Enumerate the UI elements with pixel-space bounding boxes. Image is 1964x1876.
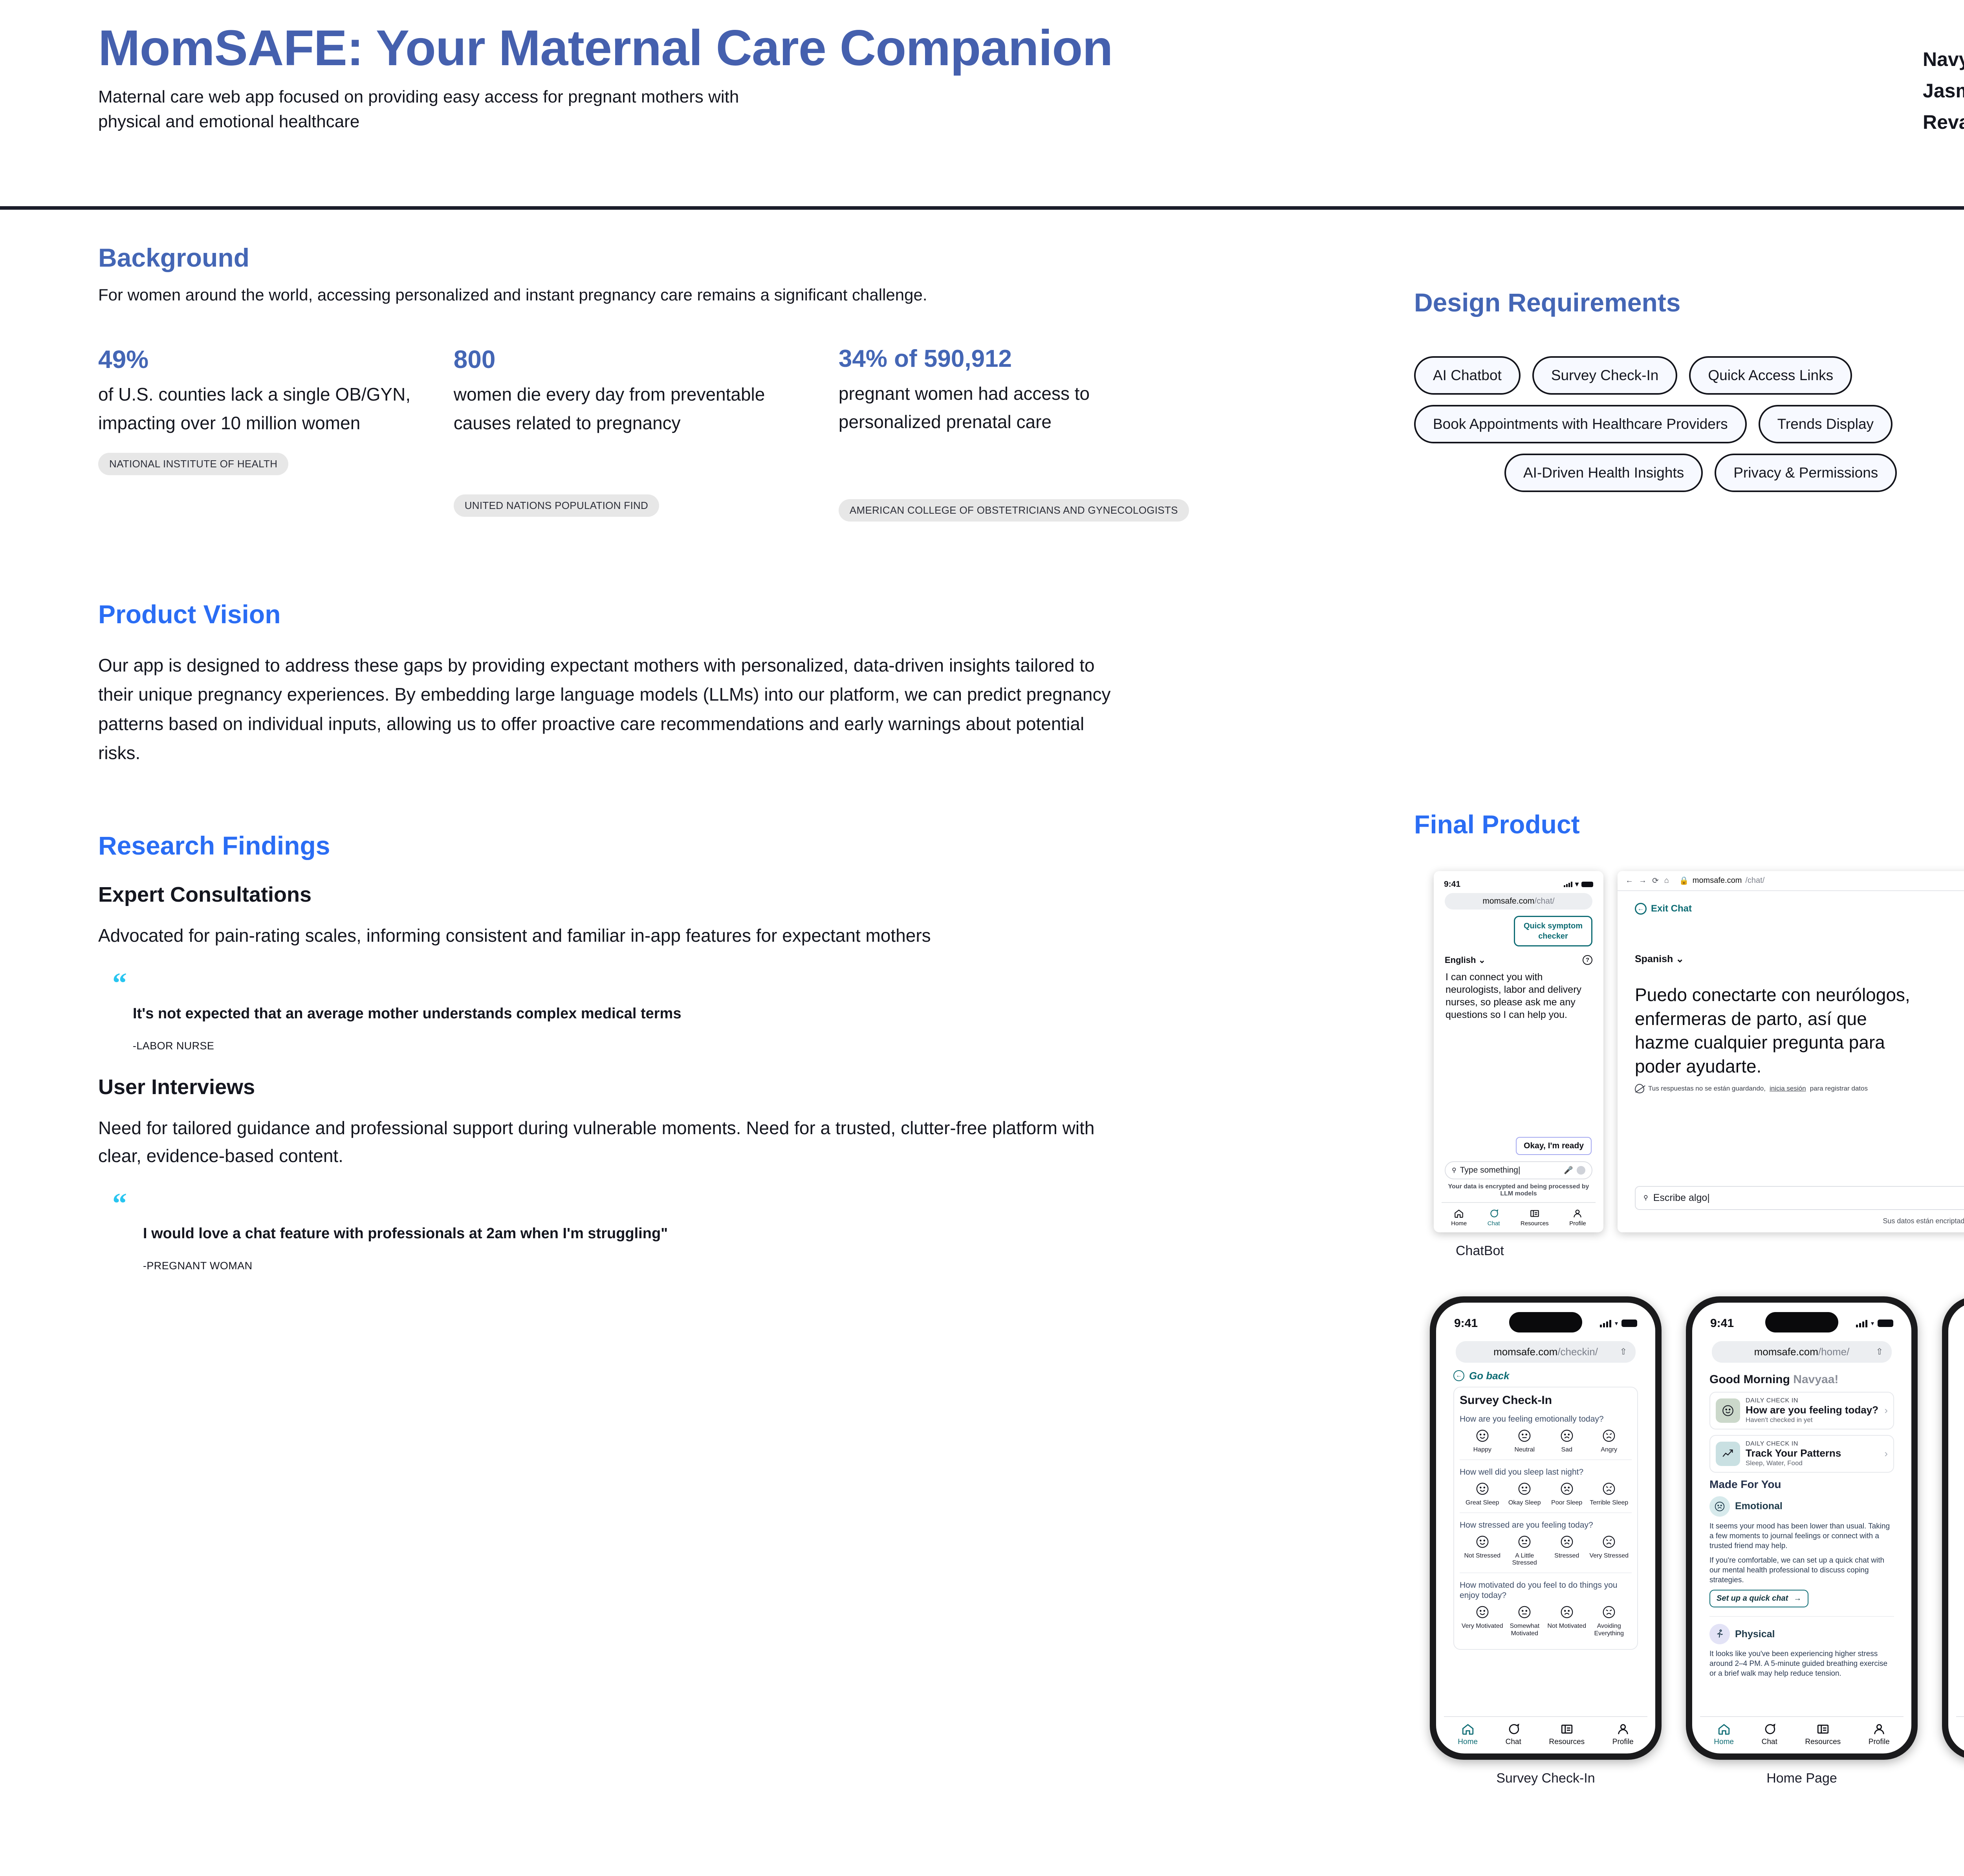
resources-icon — [1530, 1208, 1540, 1219]
page-content: ← Go back Survey Check-In How are you fe… — [1444, 1363, 1647, 1716]
url-domain: momsafe.com — [1693, 876, 1742, 885]
product-vision-heading: Product Vision — [98, 600, 1320, 629]
bot-message: I can connect you with neurologists, lab… — [1446, 971, 1592, 1021]
survey-title: Survey Check-In — [1460, 1394, 1632, 1407]
sad-face-icon — [1714, 1501, 1726, 1512]
phone-mockup-chat: 9:41 ▾ momsafe.com/chat/ Quick symptom c… — [1434, 871, 1603, 1232]
url-bar[interactable]: momsafe.com/checkin/ ⇧ — [1456, 1341, 1636, 1363]
sad-face-icon — [1559, 1534, 1574, 1549]
author-names: Navyaa Vemuri Jasmine Sayed Reva Moolky — [1923, 48, 1964, 134]
sad-face-icon — [1559, 1605, 1574, 1620]
bottom-tab-bar: Home Chat Resources — [1444, 1716, 1647, 1753]
phone-screen: 9:41 ▾ momsafe.com/checkin/ ⇧ — [1436, 1303, 1655, 1753]
user-name: Navyaa! — [1793, 1373, 1838, 1386]
url-path: /checkin/ — [1557, 1346, 1598, 1358]
card-kicker: DAILY CHECK IN — [1746, 1397, 1879, 1404]
survey-option-row: Great Sleep Okay Sleep Poo — [1460, 1481, 1632, 1513]
dynamic-island — [1765, 1312, 1838, 1332]
share-icon[interactable]: ⇧ — [1620, 1347, 1627, 1357]
final-product-section: Final Product 9:41 ▾ — [1414, 810, 1964, 1786]
survey-option[interactable]: Angry — [1588, 1428, 1631, 1454]
survey-option[interactable]: Somewhat Motivated — [1504, 1605, 1546, 1637]
author-name: Navyaa Vemuri — [1923, 48, 1964, 71]
emotional-insight-header: Emotional — [1709, 1496, 1894, 1517]
physical-insight-header: Physical — [1709, 1624, 1894, 1644]
eye-off-icon — [1635, 1084, 1644, 1093]
phone-screen: 9:41 ▾ momsafe.com/home/ ⇧ — [1692, 1303, 1911, 1753]
go-back-button[interactable]: ← Go back — [1453, 1370, 1638, 1382]
requirement-pill-ai-driven-health-insights[interactable]: AI-Driven Health Insights — [1504, 454, 1703, 492]
survey-question: How are you feeling emotionally today? — [1460, 1414, 1632, 1424]
survey-option[interactable]: Okay Sleep — [1504, 1481, 1546, 1507]
angry-face-icon — [1601, 1605, 1616, 1620]
ready-button[interactable]: Okay, I'm ready — [1516, 1137, 1592, 1155]
insight-name: Physical — [1735, 1629, 1775, 1640]
quote-text: It's not expected that an average mother… — [133, 1003, 801, 1025]
header-left: MomSAFE: Your Maternal Care Companion Ma… — [98, 22, 1113, 134]
set-up-quick-chat-button[interactable]: Set up a quick chat → — [1709, 1590, 1808, 1607]
card-subtitle: Haven't checked in yet — [1746, 1416, 1879, 1424]
wifi-icon: ▾ — [1615, 1320, 1618, 1327]
bottom-tab-bar: Home Chat Resources — [1700, 1716, 1904, 1753]
resources-phone-group: 9:41 ▾ momsafe.com/resources/ — [1942, 1296, 1964, 1786]
design-requirements-heading: Design Requirements — [1414, 288, 1964, 317]
url-bar[interactable]: momsafe.com/chat/ — [1445, 893, 1592, 910]
stat-text: women die every day from preventable cau… — [454, 380, 807, 437]
trend-icon-tile — [1716, 1442, 1740, 1466]
card-subtitle: Sleep, Water, Food — [1746, 1459, 1879, 1467]
requirement-row: Book Appointments with Healthcare Provid… — [1414, 405, 1964, 443]
bottom-tab-bar: Home Chat Resources — [1956, 1716, 1964, 1753]
url-path: /chat/ — [1534, 897, 1554, 906]
runner-icon — [1714, 1628, 1726, 1640]
card-kicker: DAILY CHECK IN — [1746, 1440, 1879, 1448]
chat-input[interactable]: Escribe algo| — [1653, 1192, 1964, 1204]
final-product-heading: Final Product — [1414, 810, 1964, 839]
caption-home: Home Page — [1686, 1771, 1918, 1786]
caption-chatbot: ChatBot — [1434, 1243, 1603, 1259]
requirement-row: AI-Driven Health Insights Privacy & Perm… — [1414, 454, 1964, 492]
background-section: Background For women around the world, a… — [98, 243, 1320, 522]
resources-icon — [1816, 1722, 1830, 1736]
language-selector[interactable]: Spanish ⌄ — [1635, 953, 1684, 965]
card-title: How are you feeling today? — [1746, 1404, 1879, 1416]
happy-face-icon — [1475, 1428, 1490, 1443]
expert-quote-block: “ It's not expected that an average moth… — [98, 976, 1320, 1052]
profile-icon — [1872, 1722, 1886, 1736]
emotional-paragraph-1: It seems your mood has been lower than u… — [1709, 1521, 1894, 1551]
forward-icon[interactable]: → — [1639, 876, 1647, 885]
page-content: Good Morning Navyaa! DAILY CHECK IN How … — [1700, 1363, 1904, 1716]
home-icon — [1717, 1722, 1731, 1736]
survey-option[interactable]: Poor Sleep — [1546, 1481, 1588, 1507]
survey-option[interactable]: Not Stressed — [1461, 1534, 1504, 1567]
stat-number: 34% of 590,912 — [839, 346, 1320, 372]
background-heading: Background — [98, 243, 1320, 272]
runner-icon-tile — [1709, 1624, 1730, 1644]
option-label: Angry — [1588, 1446, 1631, 1454]
tab-resources[interactable]: Resources — [1521, 1208, 1549, 1227]
language-row: Spanish ⌄ ? — [1635, 953, 1964, 965]
author-name: Reva Moolky — [1923, 111, 1964, 134]
tab-profile[interactable]: Profile — [1569, 1208, 1586, 1227]
neutral-face-icon — [1517, 1481, 1532, 1496]
survey-option[interactable]: Very Motivated — [1461, 1605, 1504, 1637]
tab-chat[interactable]: Chat — [1488, 1208, 1500, 1227]
encryption-note: Sus datos están encriptados y procesados… — [1635, 1217, 1964, 1225]
requirement-pill-survey-check-in[interactable]: Survey Check-In — [1532, 356, 1678, 395]
divider — [1709, 1616, 1894, 1617]
option-label: Okay Sleep — [1504, 1499, 1546, 1507]
option-label: Great Sleep — [1461, 1499, 1504, 1507]
url-bar[interactable]: momsafe.com/home/ ⇧ — [1712, 1341, 1892, 1363]
happy-face-icon — [1721, 1404, 1735, 1417]
poster-header: MomSAFE: Your Maternal Care Companion Ma… — [0, 0, 1964, 210]
page-content: Resources ⚲ ex. Doctors near me ⌘/ Quick… — [1956, 1363, 1964, 1716]
chat-bubble-icon — [1489, 1208, 1499, 1219]
tab-home[interactable]: Home — [1714, 1722, 1734, 1746]
option-label: Avoiding Everything — [1588, 1623, 1631, 1637]
survey-option[interactable]: Very Stressed — [1588, 1534, 1631, 1567]
stat-text: of U.S. counties lack a single OB/GYN, i… — [98, 380, 452, 437]
profile-icon — [1616, 1722, 1630, 1736]
survey-option-row: Happy Neutral Sad — [1460, 1428, 1632, 1460]
chatbot-phone-group: 9:41 ▾ momsafe.com/chat/ Quick symptom c… — [1434, 871, 1603, 1259]
track-patterns-card[interactable]: DAILY CHECK IN Track Your Patterns Sleep… — [1709, 1435, 1894, 1473]
survey-card: Survey Check-In How are you feeling emot… — [1453, 1387, 1638, 1650]
requirement-pill-list: AI Chatbot Survey Check-In Quick Access … — [1414, 356, 1964, 492]
arrow-right-icon: → — [1794, 1594, 1801, 1603]
survey-phone-group: 9:41 ▾ momsafe.com/checkin/ ⇧ — [1430, 1296, 1662, 1786]
requirement-pill-book-appointments[interactable]: Book Appointments with Healthcare Provid… — [1414, 405, 1747, 443]
chat-bubble-icon — [1507, 1722, 1520, 1736]
battery-icon — [1581, 882, 1593, 887]
url-domain: momsafe.com — [1482, 897, 1534, 906]
status-bar: 9:41 ▾ — [1444, 1311, 1647, 1332]
chat-input[interactable]: Type something| — [1460, 1166, 1561, 1175]
survey-option[interactable]: Avoiding Everything — [1588, 1605, 1631, 1637]
user-interviews-heading: User Interviews — [98, 1075, 1320, 1099]
tab-chat[interactable]: Chat — [1762, 1722, 1777, 1746]
greeting: Good Morning Navyaa! — [1709, 1373, 1894, 1386]
page-subtitle: Maternal care web app focused on providi… — [98, 85, 1041, 134]
caption-survey: Survey Check-In — [1430, 1771, 1662, 1786]
interview-quote-block: “ I would love a chat feature with profe… — [98, 1196, 1320, 1272]
survey-option[interactable]: Not Motivated — [1546, 1605, 1588, 1637]
wifi-icon: ▾ — [1575, 880, 1579, 888]
option-label: Neutral — [1504, 1446, 1546, 1454]
happy-face-icon — [1475, 1534, 1490, 1549]
quote-attribution: -PREGNANT WOMAN — [143, 1260, 1320, 1272]
expert-consultations-text: Advocated for pain-rating scales, inform… — [98, 922, 1104, 950]
daily-checkin-card[interactable]: DAILY CHECK IN How are you feeling today… — [1709, 1392, 1894, 1429]
back-arrow-icon: ← — [1453, 1370, 1464, 1381]
phone-mockup-resources: 9:41 ▾ momsafe.com/resources/ — [1942, 1296, 1964, 1760]
phone-mockup-survey: 9:41 ▾ momsafe.com/checkin/ ⇧ — [1430, 1296, 1662, 1760]
research-findings-section: Research Findings Expert Consultations A… — [98, 831, 1320, 1272]
neutral-face-icon — [1517, 1605, 1532, 1620]
quote-mark-icon: “ — [112, 976, 1320, 992]
battery-icon — [1878, 1320, 1893, 1327]
tab-home[interactable]: Home — [1451, 1208, 1467, 1227]
quote-text: I would love a chat feature with profess… — [143, 1223, 811, 1245]
status-time: 9:41 — [1710, 1317, 1734, 1330]
help-icon[interactable]: ? — [1583, 955, 1592, 965]
requirement-pill-ai-chatbot[interactable]: AI Chatbot — [1414, 356, 1521, 395]
right-column: Design Requirements AI Chatbot Survey Ch… — [1398, 210, 1964, 1876]
chevron-right-icon: › — [1884, 1448, 1888, 1460]
send-button[interactable] — [1577, 1166, 1585, 1175]
stat-card: 34% of 590,912 pregnant women had access… — [839, 346, 1320, 522]
search-icon: ⚲ — [1452, 1166, 1457, 1174]
quick-symptom-checker-button[interactable]: Quick symptom checker — [1514, 916, 1592, 946]
poster-body: Background For women around the world, a… — [0, 210, 1964, 1876]
neutral-face-icon — [1517, 1534, 1532, 1549]
quote-mark-icon: “ — [112, 1196, 1320, 1212]
requirement-row: AI Chatbot Survey Check-In Quick Access … — [1414, 356, 1964, 395]
privacy-note: Tus respuestas no se están guardando, in… — [1635, 1084, 1964, 1093]
microphone-icon[interactable]: 🎤 — [1564, 1166, 1573, 1175]
page-title: MomSAFE: Your Maternal Care Companion — [98, 22, 1113, 75]
url-path: /chat/ — [1745, 876, 1764, 885]
user-interviews-text: Need for tailored guidance and professio… — [98, 1114, 1104, 1170]
resources-icon — [1560, 1722, 1574, 1736]
smiley-icon-tile — [1716, 1398, 1740, 1423]
option-label: Very Stressed — [1588, 1552, 1631, 1560]
requirement-pill-trends-display[interactable]: Trends Display — [1759, 405, 1893, 443]
emotional-paragraph-2: If you're comfortable, we can set up a q… — [1709, 1556, 1894, 1585]
tab-profile[interactable]: Profile — [1869, 1722, 1890, 1746]
signal-icon — [1600, 1320, 1611, 1327]
chat-header: ← Exit Chat Quick symptom checker — [1635, 903, 1964, 924]
home-icon — [1454, 1208, 1464, 1219]
insight-name: Emotional — [1735, 1501, 1783, 1512]
source-badge: NATIONAL INSTITUTE OF HEALTH — [98, 453, 288, 475]
encryption-note: Your data is encrypted and being process… — [1442, 1183, 1596, 1203]
dynamic-island — [1509, 1312, 1582, 1332]
status-icons: ▾ — [1564, 880, 1593, 888]
source-badge: AMERICAN COLLEGE OF OBSTETRICIANS AND GY… — [839, 499, 1189, 522]
profile-icon — [1572, 1208, 1583, 1219]
back-arrow-icon: ← — [1635, 903, 1647, 915]
card-text: DAILY CHECK IN Track Your Patterns Sleep… — [1746, 1440, 1879, 1467]
card-text: DAILY CHECK IN How are you feeling today… — [1746, 1397, 1879, 1424]
reload-icon[interactable]: ⟳ — [1652, 876, 1659, 886]
stat-text: pregnant women had access to personalize… — [839, 379, 1192, 436]
chevron-right-icon: › — [1884, 1404, 1888, 1417]
address-bar[interactable]: 🔒 momsafe.com/chat/ — [1679, 876, 1964, 886]
sad-face-icon — [1559, 1481, 1574, 1496]
browser-page: ← Exit Chat Quick symptom checker Spanis… — [1618, 891, 1964, 1232]
subtitle-line-1: Maternal care web app focused on providi… — [98, 85, 1041, 109]
left-column: Background For women around the world, a… — [0, 210, 1398, 1876]
neutral-face-icon — [1517, 1428, 1532, 1443]
chat-bubble-icon — [1763, 1722, 1776, 1736]
chat-input-row[interactable]: ⚲ Type something| 🎤 — [1445, 1161, 1592, 1179]
phone-screen: 9:41 ▾ momsafe.com/resources/ — [1948, 1303, 1964, 1753]
language-row: English ⌄ ? — [1445, 955, 1592, 965]
card-title: Track Your Patterns — [1746, 1448, 1879, 1459]
sad-face-icon-tile — [1709, 1496, 1730, 1517]
survey-option[interactable]: Terrible Sleep — [1588, 1481, 1631, 1507]
final-product-top-row: 9:41 ▾ momsafe.com/chat/ Quick symptom c… — [1414, 871, 1964, 1259]
status-bar: 9:41 ▾ — [1956, 1311, 1964, 1332]
home-icon[interactable]: ⌂ — [1664, 876, 1669, 885]
home-icon — [1461, 1722, 1475, 1736]
final-product-bottom-row: 9:41 ▾ momsafe.com/checkin/ ⇧ — [1414, 1296, 1964, 1786]
tab-resources[interactable]: Resources — [1549, 1722, 1585, 1746]
expert-consultations-heading: Expert Consultations — [98, 882, 1320, 907]
status-time: 9:41 — [1444, 880, 1460, 889]
status-icons: ▾ — [1600, 1320, 1637, 1327]
browser-mockup-chat: ← → ⟳ ⌂ 🔒 momsafe.com/chat/ ☆ ☻ ⋮ — [1618, 871, 1964, 1232]
login-link[interactable]: inicia sesión — [1770, 1085, 1806, 1093]
home-phone-group: 9:41 ▾ momsafe.com/home/ ⇧ — [1686, 1296, 1918, 1786]
angry-face-icon — [1601, 1534, 1616, 1549]
survey-option[interactable]: Stressed — [1546, 1534, 1588, 1567]
exit-chat-button[interactable]: ← Exit Chat — [1635, 903, 1692, 915]
angry-face-icon — [1601, 1481, 1616, 1496]
option-label: Stressed — [1546, 1552, 1588, 1560]
survey-option[interactable]: A Little Stressed — [1504, 1534, 1546, 1567]
survey-option[interactable]: Happy — [1461, 1428, 1504, 1454]
bot-message: Puedo conectarte con neurólogos, enferme… — [1635, 983, 1918, 1078]
made-for-you-heading: Made For You — [1709, 1478, 1894, 1491]
signal-icon — [1564, 881, 1572, 887]
option-label: Terrible Sleep — [1588, 1499, 1631, 1507]
signal-icon — [1856, 1320, 1867, 1327]
option-label: Not Stressed — [1461, 1552, 1504, 1560]
source-badge: UNITED NATIONS POPULATION FIND — [454, 494, 659, 517]
requirement-pill-privacy-permissions[interactable]: Privacy & Permissions — [1715, 454, 1897, 492]
survey-option[interactable]: Neutral — [1504, 1428, 1546, 1454]
chevron-down-icon: ⌄ — [1478, 955, 1486, 965]
option-label: A Little Stressed — [1504, 1552, 1546, 1567]
happy-face-icon — [1475, 1605, 1490, 1620]
author-block: Navyaa Vemuri Jasmine Sayed Reva Moolky … — [1923, 22, 1964, 134]
survey-question: How stressed are you feeling today? — [1460, 1520, 1632, 1530]
battery-icon — [1621, 1320, 1637, 1327]
angry-face-icon — [1601, 1428, 1616, 1443]
survey-option[interactable]: Sad — [1546, 1428, 1588, 1454]
subtitle-line-2: physical and emotional healthcare — [98, 110, 1041, 134]
status-icons: ▾ — [1856, 1320, 1893, 1327]
stat-number: 49% — [98, 346, 454, 373]
bottom-tab-bar: Home Chat Resources — [1439, 1203, 1598, 1228]
language-selector[interactable]: English ⌄ — [1445, 955, 1486, 965]
back-icon[interactable]: ← — [1625, 876, 1633, 885]
option-label: Happy — [1461, 1446, 1504, 1454]
product-vision-body: Our app is designed to address these gap… — [98, 651, 1127, 768]
status-bar: 9:41 ▾ — [1700, 1311, 1904, 1332]
sad-face-icon — [1559, 1428, 1574, 1443]
option-label: Very Motivated — [1461, 1623, 1504, 1630]
stats-row: 49% of U.S. counties lack a single OB/GY… — [98, 346, 1320, 522]
stat-card: 800 women die every day from preventable… — [454, 346, 839, 517]
url-domain: momsafe.com — [1493, 1346, 1557, 1358]
tab-profile[interactable]: Profile — [1612, 1722, 1634, 1746]
stat-number: 800 — [454, 346, 839, 373]
author-name: Jasmine Sayed — [1923, 79, 1964, 102]
tab-home[interactable]: Home — [1458, 1722, 1478, 1746]
survey-question: How well did you sleep last night? — [1460, 1467, 1632, 1477]
background-lead: For women around the world, accessing pe… — [98, 282, 1061, 307]
physical-paragraph: It looks like you've been experiencing h… — [1709, 1649, 1894, 1678]
phone-mockup-home: 9:41 ▾ momsafe.com/home/ ⇧ — [1686, 1296, 1918, 1760]
quote-attribution: -LABOR NURSE — [133, 1040, 1320, 1052]
chevron-down-icon: ⌄ — [1676, 954, 1684, 965]
trend-up-icon — [1721, 1447, 1735, 1461]
chat-input-row[interactable]: ⚲ Escribe algo| 🎤 — [1635, 1186, 1964, 1210]
browser-chrome: ← → ⟳ ⌂ 🔒 momsafe.com/chat/ ☆ ☻ ⋮ — [1618, 871, 1964, 891]
status-time: 9:41 — [1454, 1317, 1478, 1330]
survey-question: How motivated do you feel to do things y… — [1460, 1580, 1632, 1601]
tab-chat[interactable]: Chat — [1506, 1722, 1521, 1746]
url-path: /home/ — [1818, 1346, 1850, 1358]
product-vision-section: Product Vision Our app is designed to ad… — [98, 600, 1320, 768]
option-label: Poor Sleep — [1546, 1499, 1588, 1507]
survey-option-row: Not Stressed A Little Stressed — [1460, 1534, 1632, 1573]
requirement-pill-quick-access-links[interactable]: Quick Access Links — [1689, 356, 1852, 395]
option-label: Sad — [1546, 1446, 1588, 1454]
happy-face-icon — [1475, 1481, 1490, 1496]
design-requirements-section: Design Requirements AI Chatbot Survey Ch… — [1414, 288, 1964, 492]
survey-option[interactable]: Great Sleep — [1461, 1481, 1504, 1507]
lock-icon: 🔒 — [1679, 876, 1689, 886]
wifi-icon: ▾ — [1871, 1320, 1874, 1327]
url-domain: momsafe.com — [1754, 1346, 1818, 1358]
survey-option-row: Very Motivated Somewhat Motivated — [1460, 1605, 1632, 1643]
caption-resources: Resources Page — [1942, 1771, 1964, 1786]
option-label: Not Motivated — [1546, 1623, 1588, 1630]
tab-resources[interactable]: Resources — [1805, 1722, 1841, 1746]
share-icon[interactable]: ⇧ — [1876, 1347, 1883, 1357]
research-findings-heading: Research Findings — [98, 831, 1320, 860]
option-label: Somewhat Motivated — [1504, 1623, 1546, 1637]
status-bar: 9:41 ▾ — [1439, 877, 1598, 893]
stat-card: 49% of U.S. counties lack a single OB/GY… — [98, 346, 454, 476]
search-icon: ⚲ — [1643, 1194, 1648, 1202]
